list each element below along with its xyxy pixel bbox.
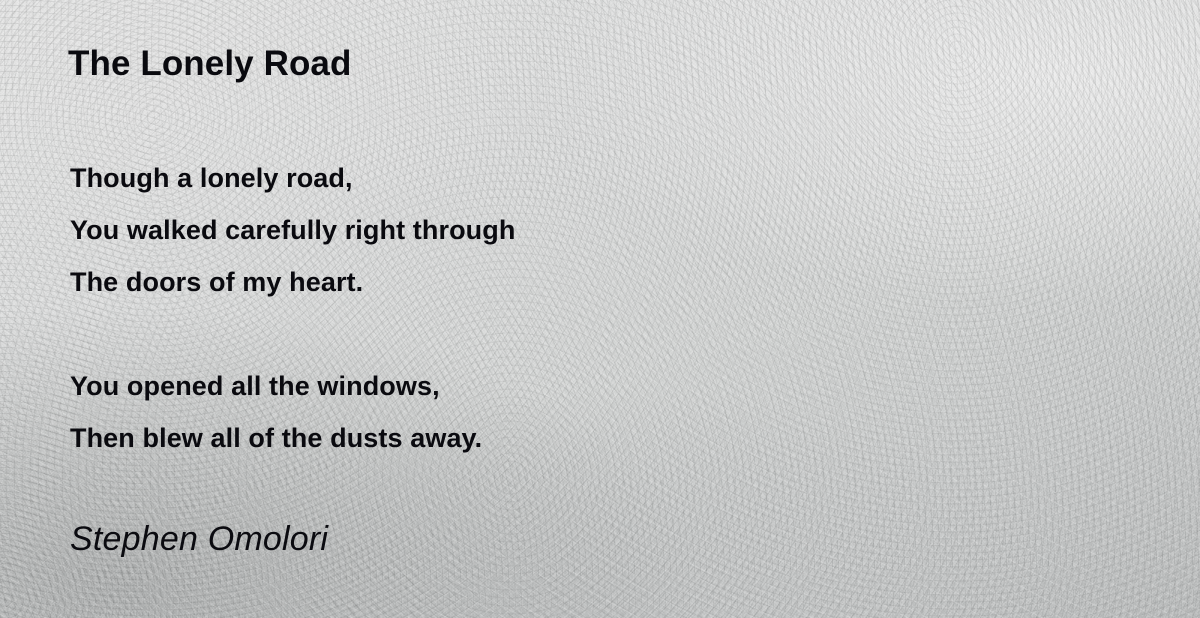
poem-line: The doors of my heart.: [70, 256, 890, 308]
poem-line: Then blew all of the dusts away.: [70, 412, 890, 464]
poem-line: You opened all the windows,: [70, 360, 890, 412]
poem-content: The Lonely Road Though a lonely road, Yo…: [0, 0, 1200, 618]
poem-title: The Lonely Road: [68, 41, 351, 87]
poem-stanza: You opened all the windows, Then blew al…: [70, 360, 890, 464]
poem-image-card: The Lonely Road Though a lonely road, Yo…: [0, 0, 1200, 618]
poem-author: Stephen Omolori: [70, 517, 328, 561]
poem-stanza: Though a lonely road, You walked careful…: [70, 152, 890, 308]
poem-line: Though a lonely road,: [70, 152, 890, 204]
poem-body: Though a lonely road, You walked careful…: [70, 152, 890, 464]
poem-line: You walked carefully right through: [70, 204, 890, 256]
